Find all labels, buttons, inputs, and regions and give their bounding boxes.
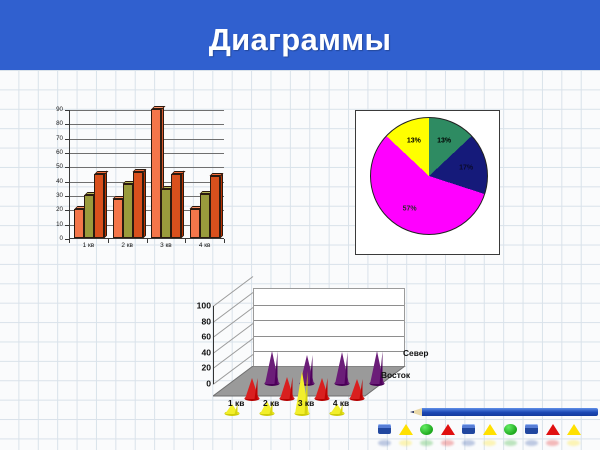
cone-chart-x-label: 4 кв — [333, 398, 349, 408]
bar-face — [161, 189, 171, 238]
bar-chart-bar — [133, 172, 143, 238]
shape-reflection — [378, 440, 391, 446]
bar-chart-bar — [123, 184, 133, 238]
bar-face — [171, 174, 181, 239]
bar-face — [123, 184, 133, 238]
bar-chart-y-tick-label: 40 — [56, 179, 63, 185]
cone-chart-y-tick-label: 0 — [206, 380, 211, 389]
bar-side — [104, 171, 107, 239]
bar-chart-x-label: 1 кв — [69, 242, 108, 249]
slide: Диаграммы 0102030405060708090 1 кв2 кв3 … — [0, 0, 600, 450]
cone-chart-depth-line — [213, 323, 254, 354]
shape-reflection — [483, 440, 496, 446]
pie-chart: 13%17%57%13% — [355, 110, 500, 255]
bar-chart-y-tick-label: 50 — [56, 164, 63, 170]
bar-face — [151, 109, 161, 238]
cone-chart-depth-line — [213, 292, 254, 323]
cone-chart-x-label: 3 кв — [298, 398, 314, 408]
pyramid-body — [441, 424, 455, 435]
bar-chart-y-tick-label: 30 — [56, 193, 63, 199]
bar-side — [220, 173, 223, 238]
bar-chart-group — [109, 110, 148, 238]
bar-chart: 0102030405060708090 1 кв2 кв3 кв4 кв — [44, 108, 240, 258]
bar-chart-plot-area — [69, 110, 224, 239]
cone-chart-depth-line — [213, 307, 254, 338]
bar-face — [113, 199, 123, 238]
pyramid-shape-icon — [399, 424, 413, 436]
footer-decoration — [378, 404, 600, 450]
shape-reflection — [420, 440, 433, 446]
bar-face — [133, 172, 143, 238]
bar-chart-bar — [210, 176, 220, 238]
pyramid-shape-icon — [441, 424, 455, 436]
bar-chart-x-axis-labels: 1 кв2 кв3 кв4 кв — [69, 242, 224, 249]
bar-chart-x-label: 2 кв — [108, 242, 147, 249]
bar-chart-bar — [151, 109, 161, 238]
shape-reflection — [504, 440, 517, 446]
shape-reflection — [567, 440, 580, 446]
cone-shadow-side — [359, 379, 362, 399]
bar-chart-y-tick-mark — [65, 110, 69, 111]
shape-reflection — [399, 440, 412, 446]
cone-chart-y-tick-label: 60 — [201, 333, 211, 342]
bar-chart-bar — [84, 195, 94, 238]
bar-chart-y-tick-label: 90 — [56, 107, 63, 113]
bar-chart-series — [70, 110, 224, 238]
cube-shape-icon — [525, 424, 539, 436]
cube-shape-icon — [462, 424, 476, 436]
cone-shadow-side — [309, 355, 312, 384]
shape-reflection — [525, 440, 538, 446]
pie-slice-label: 13% — [437, 138, 451, 145]
bar-face — [94, 174, 104, 239]
bar-chart-group — [147, 110, 186, 238]
cone-chart-y-tick-label: 20 — [201, 364, 211, 373]
bar-chart-x-label: 4 кв — [185, 242, 224, 249]
bar-face — [210, 176, 220, 238]
bar-chart-y-tick-mark — [65, 196, 69, 197]
pyramid-body — [483, 424, 497, 435]
pyramid-shape-icon — [483, 424, 497, 436]
bar-chart-y-tick-mark — [65, 153, 69, 154]
bar-chart-x-tick-mark — [224, 239, 225, 243]
bar-chart-y-tick-mark — [65, 225, 69, 226]
bar-chart-bar — [94, 174, 104, 239]
bar-chart-bar — [113, 199, 123, 238]
bar-chart-y-tick-mark — [65, 182, 69, 183]
shape-reflection — [546, 440, 559, 446]
bar-side — [143, 169, 146, 238]
bar-chart-y-tick-mark — [65, 167, 69, 168]
cone-shadow-side — [324, 378, 327, 399]
bar-face — [84, 195, 94, 238]
cone-chart-depth-line — [213, 338, 254, 369]
shape-reflection — [441, 440, 454, 446]
cone-chart-legend-vostok: Восток — [381, 370, 410, 380]
bar-chart-y-tick-label: 80 — [56, 121, 63, 127]
bar-chart-y-tick-label: 70 — [56, 136, 63, 142]
bar-chart-bar — [200, 194, 210, 238]
bar-chart-bar — [190, 209, 200, 238]
bar-chart-y-tick-mark — [65, 124, 69, 125]
cone-chart-wall-gridline — [254, 320, 404, 321]
pyramid-shape-icon — [567, 424, 581, 436]
bar-chart-group — [70, 110, 109, 238]
cube-body — [525, 428, 538, 434]
cone-chart-wall-gridline — [254, 305, 404, 306]
slide-header-band: Диаграммы — [0, 0, 600, 70]
sphere-shape-icon — [420, 424, 434, 436]
bar-face — [74, 209, 84, 238]
bar-chart-y-tick-mark — [65, 139, 69, 140]
page-title: Диаграммы — [0, 22, 600, 58]
bar-face — [190, 209, 200, 238]
pyramid-body — [546, 424, 560, 435]
pyramid-shape-icon — [546, 424, 560, 436]
pie-chart-circle — [370, 117, 488, 235]
cone-shadow-side — [254, 378, 257, 399]
cone-chart-legend-sever: Север — [403, 348, 429, 358]
bar-chart-y-tick-mark — [65, 210, 69, 211]
cone-chart-wall-gridline — [254, 336, 404, 337]
cube-body — [462, 428, 475, 434]
pie-slice-label: 17% — [459, 164, 473, 171]
sphere-body — [504, 424, 517, 435]
pencil-icon — [422, 408, 598, 416]
cone-chart-depth-line — [213, 276, 254, 307]
shape-reflection — [462, 440, 475, 446]
sphere-shape-icon — [504, 424, 518, 436]
cone-chart-y-tick-label: 100 — [197, 302, 211, 311]
pyramid-body — [567, 424, 581, 435]
cone-chart-y-tick-label: 80 — [201, 317, 211, 326]
bar-chart-group — [186, 110, 225, 238]
cube-shape-icon — [378, 424, 392, 436]
cone-shadow-side — [289, 377, 292, 399]
pie-slice-label: 13% — [407, 138, 421, 145]
pie-slice-label: 57% — [403, 205, 417, 212]
cone-shadow-side — [344, 352, 347, 384]
bar-chart-y-tick-label: 20 — [56, 207, 63, 213]
bar-chart-y-tick-label: 60 — [56, 150, 63, 156]
bar-chart-y-tick-label: 0 — [60, 236, 63, 242]
cone-3d-chart: 020406080100 1 кв2 кв3 кв4 кв Север Вост… — [185, 288, 455, 408]
bar-side — [181, 171, 184, 239]
bar-face — [200, 194, 210, 238]
cube-body — [378, 428, 391, 434]
bar-chart-y-tick-label: 10 — [56, 222, 63, 228]
cone-shadow-side — [274, 351, 277, 384]
sphere-body — [420, 424, 433, 435]
pyramid-body — [399, 424, 413, 435]
bar-chart-bar — [74, 209, 84, 238]
bar-chart-bar — [171, 174, 181, 239]
cone-chart-x-label: 1 кв — [228, 398, 244, 408]
bar-chart-bar — [161, 189, 171, 238]
bar-chart-x-label: 3 кв — [147, 242, 186, 249]
cone-chart-x-label: 2 кв — [263, 398, 279, 408]
cone-chart-y-tick-label: 40 — [201, 349, 211, 358]
pencil-lead-icon — [410, 411, 414, 413]
